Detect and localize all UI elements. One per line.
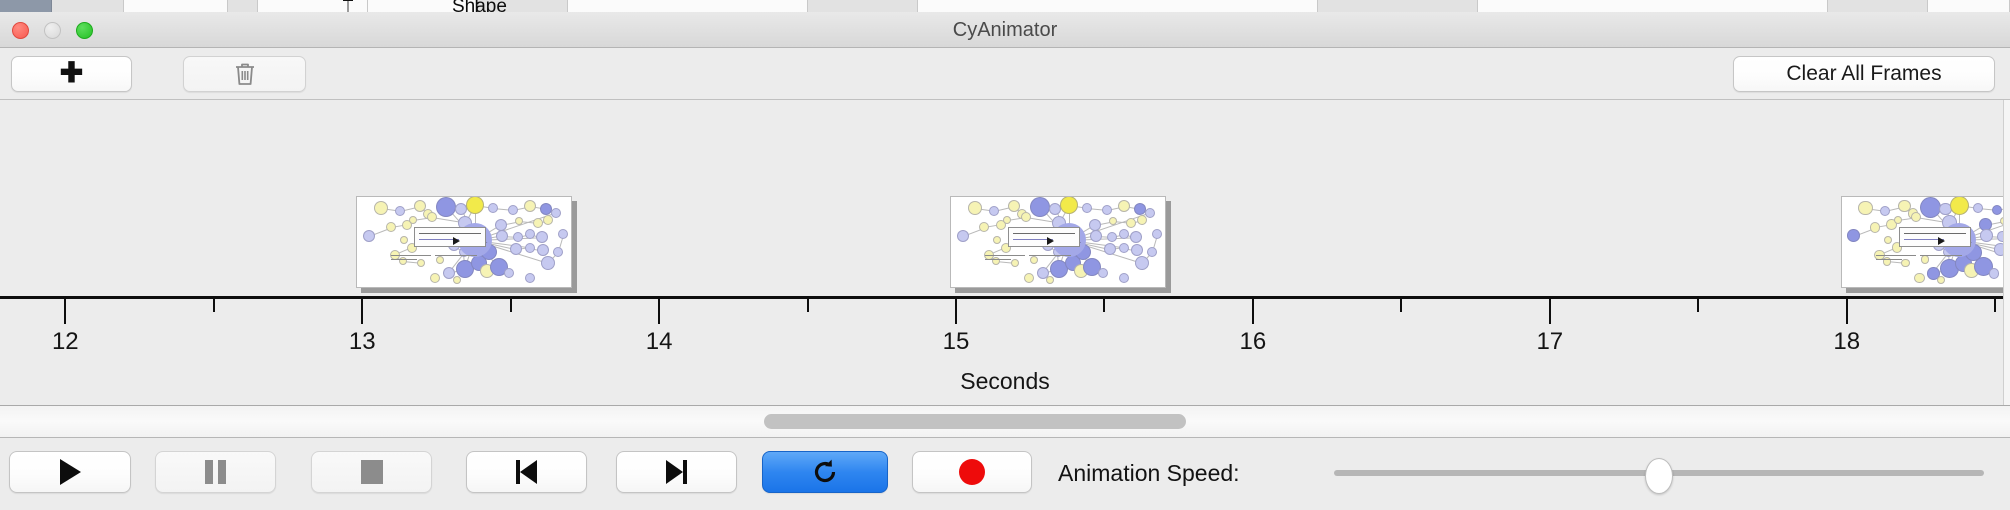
clear-all-frames-button[interactable]: Clear All Frames: [1733, 56, 1995, 92]
network-tooltip-arrow: [453, 237, 460, 245]
network-node: [453, 276, 461, 284]
slider-thumb[interactable]: [1645, 458, 1673, 494]
record-icon: [959, 459, 985, 485]
window-title: CyAnimator: [0, 19, 2010, 42]
network-node: [541, 256, 555, 270]
network-node: [1119, 243, 1129, 253]
network-node: [1030, 256, 1038, 264]
ruler-tick-major: [1549, 299, 1551, 324]
network-node: [395, 206, 405, 216]
bg-partial-label: Shape: [452, 0, 507, 12]
network-node: [551, 208, 561, 218]
network-node: [525, 229, 535, 239]
plus-icon: ✚: [60, 59, 83, 87]
record-button[interactable]: [912, 451, 1032, 493]
network-node: [417, 259, 425, 267]
network-node: [400, 236, 408, 244]
network-node: [1901, 259, 1909, 267]
animation-speed-label: Animation Speed:: [1058, 460, 1240, 487]
network-node: [524, 200, 536, 212]
network-tooltip-arrow: [1938, 237, 1945, 245]
network-caption-line: [985, 255, 1025, 256]
network-node: [525, 273, 535, 283]
bg-cell: [1478, 0, 1828, 12]
network-caption-line: [391, 259, 417, 260]
network-node: [1098, 268, 1108, 278]
network-node: [979, 222, 989, 232]
stop-icon: [361, 460, 383, 484]
bg-cell: [1318, 0, 1478, 12]
bg-cell: [124, 0, 228, 12]
network-node: [1950, 196, 1969, 215]
network-node: [427, 212, 437, 222]
ruler-tick-label: 14: [646, 328, 673, 356]
network-node: [1049, 203, 1061, 215]
network-node: [508, 205, 518, 215]
network-node: [1858, 201, 1873, 216]
ruler-tick-label: 13: [349, 328, 376, 356]
ruler-tick-minor: [807, 299, 809, 312]
network-node: [989, 206, 999, 216]
frame-strip: MCM1MCM1MCM1: [0, 100, 2010, 296]
network-tooltip: [1899, 227, 1971, 247]
bg-cell: [1828, 0, 1928, 12]
axis-title: Seconds: [0, 368, 2010, 395]
bg-cell: [568, 0, 808, 12]
ruler-tick-major: [64, 299, 66, 324]
network-node: [436, 256, 444, 264]
timeline-scrollbar-thumb[interactable]: [764, 414, 1186, 429]
network-node: [496, 230, 508, 242]
loop-button[interactable]: [762, 451, 888, 493]
network-node: [1118, 200, 1130, 212]
network-node: [1911, 212, 1922, 223]
network-tooltip: [1008, 227, 1080, 247]
network-node: [1920, 197, 1941, 218]
network-node: [1109, 217, 1117, 225]
play-icon: [60, 459, 81, 485]
network-node: [525, 243, 535, 253]
delete-frame-button[interactable]: [183, 56, 306, 92]
network-node: [1126, 218, 1136, 228]
network-node: [1102, 205, 1112, 215]
bg-glyph: ⌶: [342, 0, 354, 12]
network-node: [363, 230, 375, 242]
network-node: [1847, 229, 1860, 242]
skip-to-end-button[interactable]: [616, 451, 737, 493]
ruler-tick-major: [361, 299, 363, 324]
network-node: [1119, 273, 1129, 283]
network-node: [993, 236, 1001, 244]
skip-to-start-button[interactable]: [466, 451, 587, 493]
network-node: [1082, 203, 1092, 213]
network-caption-line: [435, 255, 477, 256]
frame-toolbar: ✚ Clear All Frames: [0, 48, 2010, 100]
network-node: [957, 230, 969, 242]
network-node: [513, 232, 523, 242]
ruler-tick-label: 18: [1833, 328, 1860, 356]
play-button[interactable]: [9, 451, 131, 493]
ruler-tick-label: 15: [943, 328, 970, 356]
network-caption-line: [1920, 255, 1962, 256]
network-node: [1130, 231, 1142, 243]
ruler-tick-label: 17: [1536, 328, 1563, 356]
network-node: [1119, 229, 1129, 239]
network-node: [553, 247, 563, 257]
network-node: [1152, 229, 1162, 239]
skip-to-start-icon: [516, 460, 537, 484]
pause-button[interactable]: [155, 451, 276, 493]
network-node: [466, 196, 484, 214]
bg-cell: [52, 0, 124, 12]
ruler-tick-major: [1252, 299, 1254, 324]
network-node: [1030, 197, 1050, 217]
network-node: [1870, 222, 1881, 233]
background-window-sliver: ⌶ | Shape: [0, 0, 2010, 12]
playback-control-bar: Animation Speed:: [0, 438, 2010, 509]
add-frame-button[interactable]: ✚: [11, 56, 132, 92]
network-node: [1021, 212, 1031, 222]
network-node: [1107, 232, 1117, 242]
network-node: [504, 268, 514, 278]
network-node: [1973, 203, 1984, 214]
timeline-frame[interactable]: MCM1: [1841, 196, 2010, 288]
network-canvas: MCM1: [951, 197, 1165, 287]
ruler-tick-major: [1846, 299, 1848, 324]
right-gutter: [2003, 100, 2010, 406]
network-node: [1884, 236, 1892, 244]
network-node: [386, 222, 396, 232]
ruler-tick-minor: [1994, 299, 1996, 312]
ruler-baseline: [0, 296, 2010, 299]
clear-all-frames-label: Clear All Frames: [1786, 62, 1941, 86]
network-node: [536, 231, 548, 243]
network-node: [1024, 273, 1034, 283]
network-node: [1060, 196, 1078, 214]
timeline-scrollbar[interactable]: [0, 406, 2010, 438]
ruler-tick-major: [658, 299, 660, 324]
network-node: [430, 273, 440, 283]
network-node: [1137, 215, 1147, 225]
bg-cell: [228, 0, 258, 12]
animation-speed-slider[interactable]: [1334, 462, 1984, 484]
network-caption-line: [1876, 255, 1916, 256]
bg-cell: [1928, 0, 2010, 12]
trash-icon: [233, 61, 257, 87]
network-node: [495, 219, 507, 231]
network-caption-line: [1876, 259, 1902, 260]
network-node: [1880, 206, 1891, 217]
stop-button[interactable]: [311, 451, 432, 493]
network-node: [1089, 219, 1101, 231]
network-node: [558, 229, 568, 239]
cyanimator-window: CyAnimator ✚ Clear All Frames MCM1MCM1MC…: [0, 12, 2010, 510]
network-caption-line: [391, 255, 431, 256]
ruler-tick-minor: [1103, 299, 1105, 312]
ruler-tick-minor: [1697, 299, 1699, 312]
network-node: [409, 216, 417, 224]
timeline-ruler: Seconds 12131415161718: [0, 296, 2010, 406]
ruler-tick-label: 12: [52, 328, 79, 356]
network-node: [1937, 276, 1945, 284]
loop-icon: [810, 457, 840, 487]
title-bar: CyAnimator: [0, 12, 2010, 48]
network-node: [374, 201, 388, 215]
skip-to-end-icon: [666, 460, 687, 484]
network-canvas: MCM1: [1842, 197, 2010, 287]
network-caption-line: [985, 259, 1011, 260]
network-node: [1011, 259, 1019, 267]
ruler-tick-minor: [1400, 299, 1402, 312]
timeline-panel[interactable]: MCM1MCM1MCM1 Seconds 12131415161718: [0, 100, 2010, 406]
network-node: [1131, 244, 1143, 256]
network-node: [1980, 229, 1993, 242]
network-node: [1147, 247, 1157, 257]
network-node: [1145, 208, 1155, 218]
network-tooltip: [414, 227, 486, 247]
network-node: [537, 244, 549, 256]
timeline-frame[interactable]: MCM1: [356, 196, 572, 288]
bg-cell: [0, 0, 52, 12]
network-node: [1992, 205, 2003, 216]
bg-cell: [808, 0, 918, 12]
network-node: [1135, 256, 1149, 270]
network-node: [543, 215, 553, 225]
ruler-tick-minor: [213, 299, 215, 312]
network-node: [1046, 276, 1054, 284]
ruler-tick-major: [955, 299, 957, 324]
network-caption-line: [1029, 255, 1071, 256]
bg-cell: [918, 0, 1318, 12]
network-node: [488, 203, 498, 213]
network-node: [1989, 268, 2000, 279]
ruler-tick-minor: [510, 299, 512, 312]
network-node: [1914, 273, 1925, 284]
network-node: [1090, 230, 1102, 242]
network-canvas: MCM1: [357, 197, 571, 287]
timeline-frame[interactable]: MCM1: [950, 196, 1166, 288]
network-node: [968, 201, 982, 215]
network-node: [1003, 216, 1011, 224]
network-node: [436, 197, 456, 217]
network-node: [533, 218, 543, 228]
network-node: [1894, 216, 1902, 224]
ruler-tick-label: 16: [1240, 328, 1267, 356]
network-node: [1921, 255, 1929, 263]
network-tooltip-arrow: [1047, 237, 1054, 245]
pause-icon: [205, 460, 226, 484]
